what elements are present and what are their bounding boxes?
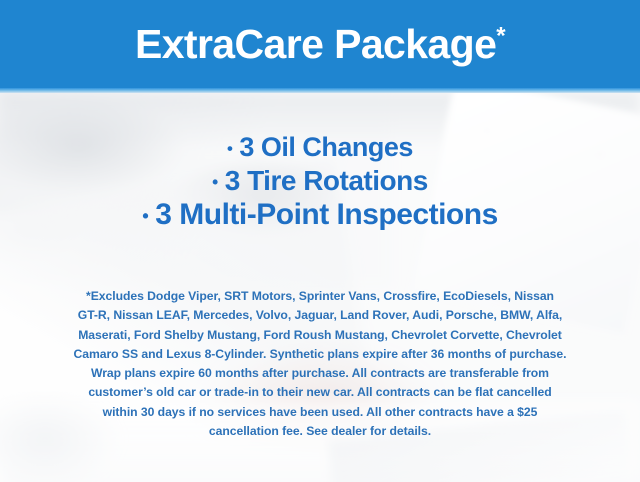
disclaimer-line: GT-R, Nissan LEAF, Mercedes, Volvo, Jagu…	[28, 306, 612, 325]
benefit-item-label: 3 Oil Changes	[239, 132, 413, 162]
disclaimer-line: cancellation fee. See dealer for details…	[28, 422, 612, 441]
disclaimer-line: Wrap plans expire 60 months after purcha…	[28, 364, 612, 383]
disclaimer-line: Camaro SS and Lexus 8-Cylinder. Syntheti…	[28, 345, 612, 364]
benefit-item-oil-changes: •3 Oil Changes	[0, 132, 640, 164]
bullet-icon: •	[227, 139, 232, 158]
page-title-text: ExtraCare Package	[135, 21, 496, 67]
disclaimer-line: within 30 days if no services have been …	[28, 403, 612, 422]
page-title: ExtraCare Package*	[135, 24, 505, 65]
bullet-icon: •	[212, 172, 218, 192]
header-banner: ExtraCare Package*	[0, 0, 640, 88]
disclaimer-line: *Excludes Dodge Viper, SRT Motors, Sprin…	[28, 287, 612, 306]
page-title-asterisk: *	[496, 22, 505, 49]
extracare-package-promo-card: ExtraCare Package* •3 Oil Changes •3 Tir…	[0, 0, 640, 482]
header-underline-divider	[0, 88, 640, 93]
benefit-item-label: 3 Multi-Point Inspections	[155, 198, 498, 231]
benefit-item-label: 3 Tire Rotations	[225, 165, 428, 196]
benefit-item-tire-rotations: •3 Tire Rotations	[0, 164, 640, 197]
benefit-item-multi-point-inspections: •3 Multi-Point Inspections	[0, 197, 640, 232]
benefits-list: •3 Oil Changes •3 Tire Rotations •3 Mult…	[0, 132, 640, 232]
bullet-icon: •	[142, 205, 148, 226]
disclaimer-line: Maserati, Ford Shelby Mustang, Ford Rous…	[28, 326, 612, 345]
disclaimer-text: *Excludes Dodge Viper, SRT Motors, Sprin…	[28, 287, 612, 441]
disclaimer-line: customer’s old car or trade-in to their …	[28, 383, 612, 402]
